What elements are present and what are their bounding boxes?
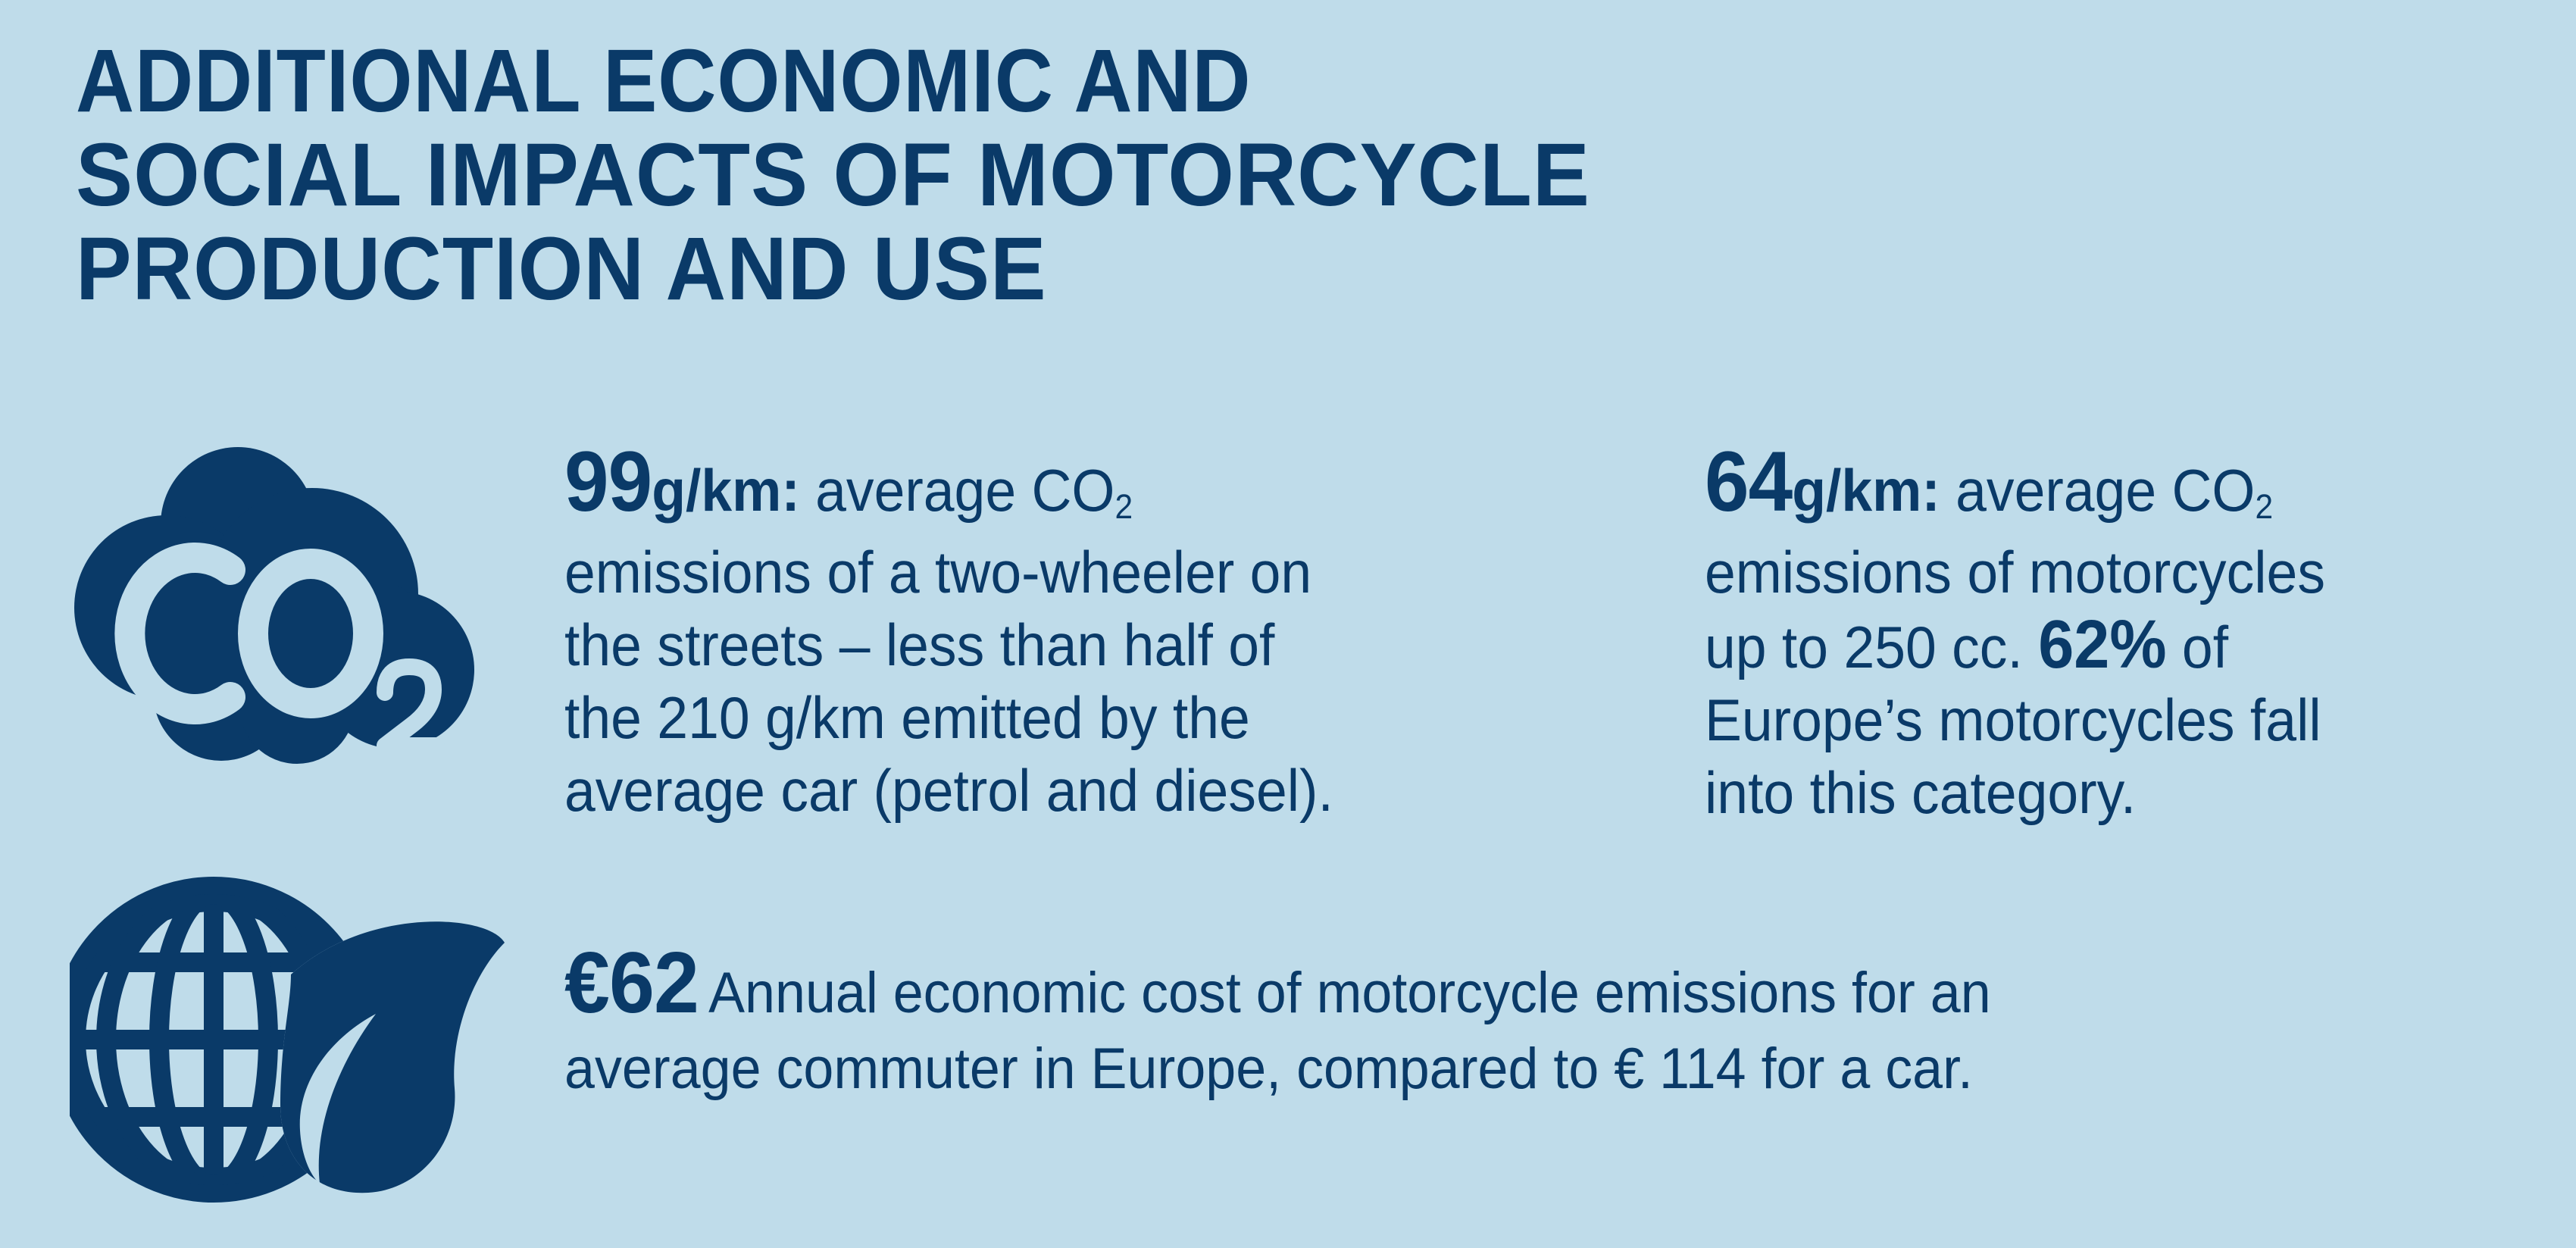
co2-cloud-icon	[70, 443, 499, 770]
stat-line-5: average car (petrol and diesel).	[564, 754, 1576, 827]
stat-block-co2-two-wheeler: 99g/km: average CO2 emissions of a two-w…	[564, 446, 1640, 827]
stat-unit-gkm: g/km:	[1792, 457, 1940, 524]
stat-block-co2-motorcycles-250cc: 64g/km: average CO2 emissions of motorcy…	[1705, 446, 2553, 829]
stat-line-3: the streets – less than half of	[564, 608, 1576, 681]
stat-line-2: emissions of motorcycles	[1705, 536, 2503, 608]
co2-subscript: 2	[2255, 487, 2273, 526]
stat-block-annual-cost: €62Annual economic cost of motorcycle em…	[564, 946, 2549, 1107]
stat-line-5: into this category.	[1705, 756, 2503, 829]
stat-line-2: average commuter in Europe, compared to …	[564, 1031, 2440, 1107]
stat-line-1-tail: Annual economic cost of motorcycle emiss…	[708, 961, 1991, 1025]
stat-value-euro-62: €62	[564, 946, 708, 1021]
stat-line-1: 64g/km: average CO2	[1705, 446, 2503, 536]
stat-line-3: up to 250 cc. 62% of	[1705, 608, 2503, 683]
page-title-line-1: ADDITIONAL ECONOMIC AND	[76, 36, 2270, 126]
stat-line-1-tail: average CO	[800, 457, 1115, 524]
infographic-poster: ADDITIONAL ECONOMIC AND SOCIAL IMPACTS O…	[0, 0, 2576, 1248]
co2-subscript: 2	[1114, 487, 1133, 526]
stat-line-2: emissions of a two-wheeler on	[564, 536, 1576, 608]
page-title: ADDITIONAL ECONOMIC AND SOCIAL IMPACTS O…	[76, 36, 2500, 318]
globe-leaf-icon	[70, 850, 521, 1229]
stat-line-1: €62Annual economic cost of motorcycle em…	[564, 946, 2440, 1031]
stat-line-3-prefix: up to 250 cc.	[1705, 614, 2038, 680]
stat-unit-gkm: g/km:	[652, 457, 800, 524]
stat-line-1-tail: average CO	[1940, 457, 2256, 524]
page-title-line-3: PRODUCTION AND USE	[76, 224, 2343, 314]
stat-value-62-percent: 62%	[2038, 607, 2166, 683]
stat-line-4: the 210 g/km emitted by the	[564, 681, 1576, 754]
stat-value-64: 64	[1705, 446, 1792, 518]
stat-line-1: 99g/km: average CO2	[564, 446, 1576, 536]
stat-line-3-suffix: of	[2167, 614, 2229, 680]
page-title-line-2: SOCIAL IMPACTS OF MOTORCYCLE	[76, 130, 2391, 220]
stat-line-4: Europe’s motorcycles fall	[1705, 683, 2503, 756]
stat-value-99: 99	[564, 446, 652, 518]
